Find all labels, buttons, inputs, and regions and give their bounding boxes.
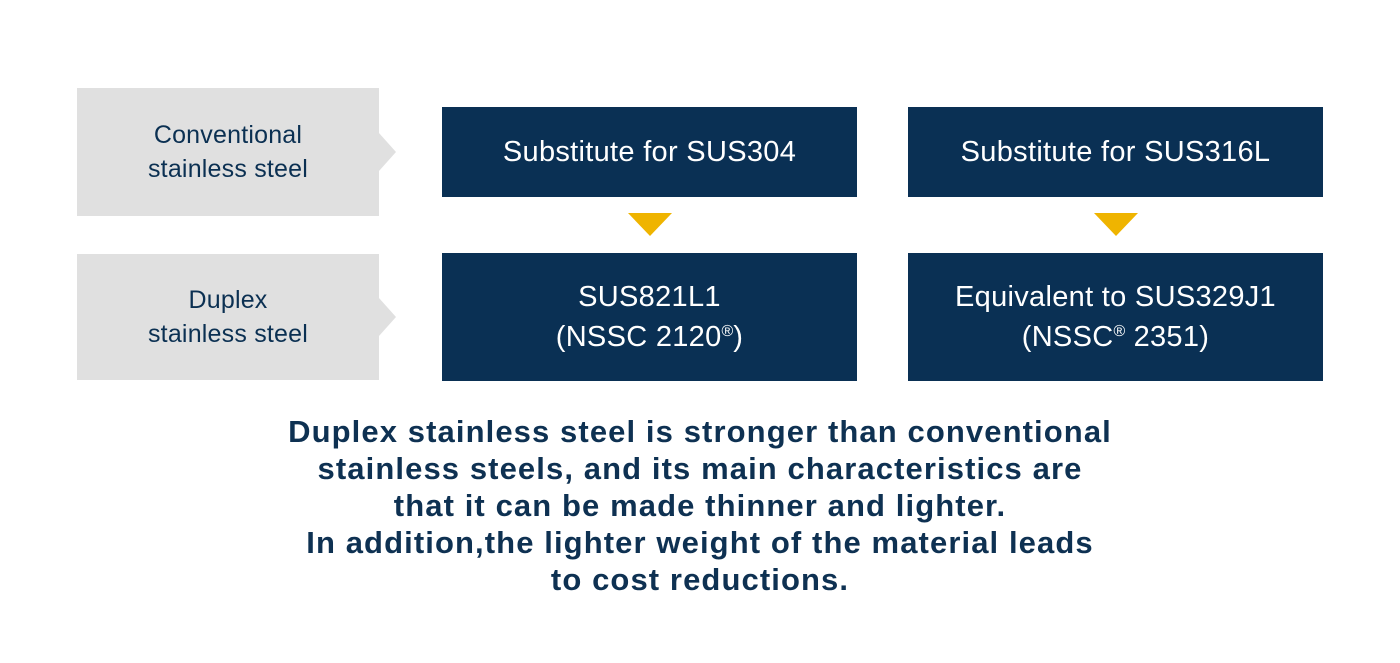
- card-label: SUS821L1 (NSSC 2120®): [556, 277, 744, 357]
- down-arrow-icon-left: [628, 213, 672, 236]
- card-line2: (NSSC® 2351): [955, 317, 1276, 357]
- card-label: Substitute for SUS304: [503, 136, 796, 169]
- card-line1: SUS821L1: [556, 277, 744, 317]
- card-sus821l1: SUS821L1 (NSSC 2120®): [442, 253, 857, 381]
- caption-text: Duplex stainless steel is stronger than …: [0, 413, 1400, 598]
- card-line2-before: (NSSC 2120: [556, 321, 722, 353]
- registered-trademark-icon: ®: [1113, 323, 1125, 340]
- comparison-diagram: Conventional stainless steel Duplex stai…: [0, 0, 1400, 400]
- registered-trademark-icon: ®: [722, 323, 734, 340]
- row-label-line1: Duplex: [188, 286, 267, 314]
- card-label: Equivalent to SUS329J1 (NSSC® 2351): [955, 277, 1276, 357]
- pennant-arrow-icon: [379, 133, 396, 171]
- card-sus329j1: Equivalent to SUS329J1 (NSSC® 2351): [908, 253, 1323, 381]
- caption-line-2: stainless steels, and its main character…: [0, 450, 1400, 487]
- caption-line-4: In addition,the lighter weight of the ma…: [0, 524, 1400, 561]
- down-arrow-icon-right: [1094, 213, 1138, 236]
- caption-line-3: that it can be made thinner and lighter.: [0, 487, 1400, 524]
- card-line2-after: 2351): [1125, 321, 1209, 353]
- card-substitute-for-sus304: Substitute for SUS304: [442, 107, 857, 197]
- row-label-line2: stainless steel: [148, 155, 308, 183]
- card-line2-before: (NSSC: [1022, 321, 1114, 353]
- row-label-line2: stainless steel: [148, 320, 308, 348]
- caption-line-1: Duplex stainless steel is stronger than …: [0, 413, 1400, 450]
- row-label-text: Duplex stainless steel: [140, 283, 316, 351]
- pennant-arrow-icon: [379, 298, 396, 336]
- card-label: Substitute for SUS316L: [961, 136, 1271, 169]
- card-substitute-for-sus316l: Substitute for SUS316L: [908, 107, 1323, 197]
- card-line1: Equivalent to SUS329J1: [955, 277, 1276, 317]
- row-label-text: Conventional stainless steel: [140, 118, 316, 186]
- caption-line-5: to cost reductions.: [0, 561, 1400, 598]
- card-line2: (NSSC 2120®): [556, 317, 744, 357]
- row-label-line1: Conventional: [154, 121, 302, 149]
- row-label-conventional-stainless-steel: Conventional stainless steel: [77, 88, 379, 216]
- card-line2-after: ): [733, 321, 743, 353]
- row-label-duplex-stainless-steel: Duplex stainless steel: [77, 254, 379, 380]
